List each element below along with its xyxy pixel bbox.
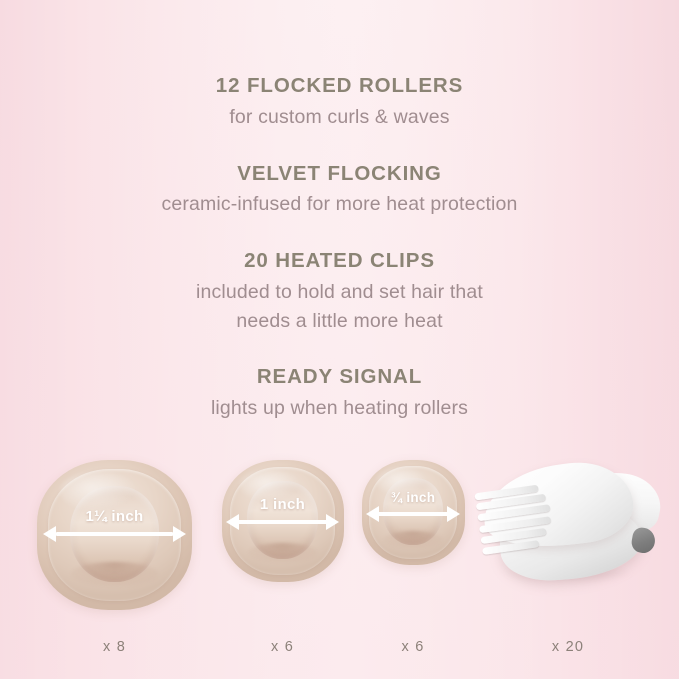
product-lineup: 1¼ inch x 8 1 inch [0,455,679,655]
feature-subtext-line: for custom curls & waves [0,103,679,132]
dimension-arrow: ¾ inch [366,506,461,522]
feature-subtext-line: lights up when heating rollers [0,394,679,423]
arrow-right-icon [326,514,339,530]
product-infographic: 12 FLOCKED ROLLERS for custom curls & wa… [0,0,679,679]
dimension-label: ¾ inch [366,490,461,505]
clip-teeth-icon [474,481,559,566]
feature-subtext: included to hold and set hair that needs… [0,278,679,336]
product-item-roller-medium: 1 inch x 6 [210,460,355,655]
product-count-label: x 6 [348,639,478,655]
arrow-left-icon [43,526,56,542]
product-count-label: x 8 [22,639,207,655]
feature-title: 12 FLOCKED ROLLERS [0,72,679,100]
arrow-right-icon [173,526,186,542]
roller-small-image: ¾ inch [362,460,465,565]
product-count-label: x 6 [210,639,355,655]
arrow-bar [374,512,452,516]
arrow-bar [236,520,328,524]
feature-item-ready-signal: READY SIGNAL lights up when heating roll… [0,363,679,423]
feature-subtext-line: included to hold and set hair that [0,278,679,307]
feature-list: 12 FLOCKED ROLLERS for custom curls & wa… [0,72,679,423]
roller-medium-image: 1 inch [222,460,344,582]
feature-subtext: ceramic-infused for more heat protection [0,190,679,219]
arrow-right-icon [447,506,460,522]
feature-item-heated-clips: 20 HEATED CLIPS included to hold and set… [0,247,679,335]
feature-subtext-line: needs a little more heat [0,307,679,336]
product-count-label: x 20 [468,639,668,655]
feature-title: 20 HEATED CLIPS [0,247,679,275]
roller-large-image: 1¼ inch [37,460,192,610]
roller-highlight [60,472,138,511]
heated-clip-image [479,460,657,590]
feature-item-velvet-flocking: VELVET FLOCKING ceramic-infused for more… [0,160,679,220]
product-item-roller-large: 1¼ inch x 8 [22,460,207,655]
product-item-heated-clip: x 20 [468,460,668,655]
feature-title: READY SIGNAL [0,363,679,391]
arrow-bar [56,532,173,536]
clip-hinge [630,526,657,554]
product-item-roller-small: ¾ inch x 6 [348,460,478,655]
roller-groove [71,562,158,586]
dimension-label: 1¼ inch [43,508,186,525]
dimension-label: 1 inch [226,496,338,513]
dimension-arrow: 1 inch [226,514,338,530]
feature-subtext: lights up when heating rollers [0,394,679,423]
dimension-arrow: 1¼ inch [43,526,186,542]
feature-item-flocked-rollers: 12 FLOCKED ROLLERS for custom curls & wa… [0,72,679,132]
feature-subtext-line: ceramic-infused for more heat protection [0,190,679,219]
feature-subtext: for custom curls & waves [0,103,679,132]
feature-title: VELVET FLOCKING [0,160,679,188]
